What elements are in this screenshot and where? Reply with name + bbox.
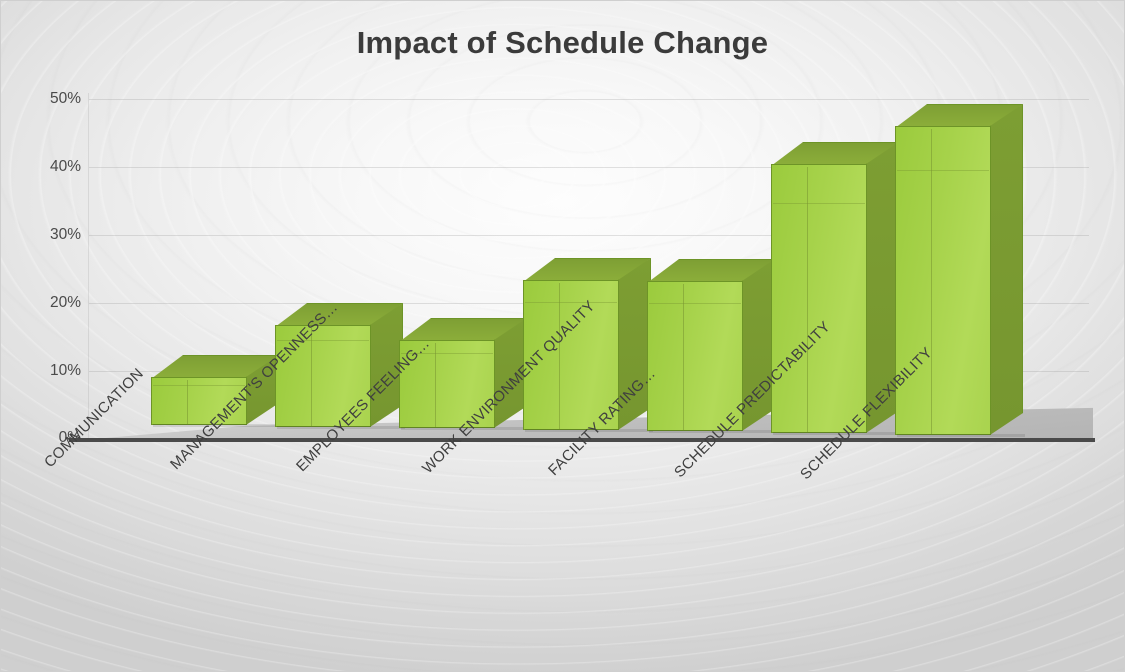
gridline-50 bbox=[89, 99, 1089, 100]
bar-front-face bbox=[895, 126, 991, 435]
bar-side-face bbox=[990, 104, 1023, 435]
bar-inner-edge bbox=[153, 385, 245, 386]
y-tick-label: 10% bbox=[9, 362, 81, 380]
y-tick-label: 50% bbox=[9, 90, 81, 108]
bar-inner-edge bbox=[897, 170, 989, 171]
bar-front-face bbox=[647, 281, 743, 431]
y-tick-label: 20% bbox=[9, 294, 81, 312]
bar[interactable] bbox=[895, 126, 991, 435]
y-axis-line bbox=[88, 93, 89, 441]
bar-front-face bbox=[771, 164, 867, 433]
bar-inner-edge bbox=[931, 129, 932, 434]
bar-inner-edge bbox=[435, 343, 436, 427]
y-tick-label: 30% bbox=[9, 226, 81, 244]
bar-inner-edge bbox=[807, 167, 808, 432]
bar[interactable] bbox=[771, 164, 867, 433]
bar[interactable] bbox=[647, 281, 743, 431]
chart-container: Impact of Schedule Change 50% 40% 30% 20… bbox=[0, 0, 1125, 672]
bar-inner-edge bbox=[187, 380, 188, 424]
bar-inner-edge bbox=[311, 328, 312, 426]
chart-title: Impact of Schedule Change bbox=[1, 25, 1124, 61]
bar-inner-edge bbox=[525, 302, 617, 303]
bar-shadow bbox=[897, 434, 1025, 437]
y-tick-label: 40% bbox=[9, 158, 81, 176]
bar-inner-edge bbox=[559, 283, 560, 429]
bar-inner-edge bbox=[683, 284, 684, 430]
bar-inner-edge bbox=[649, 303, 741, 304]
bar-inner-edge bbox=[773, 203, 865, 204]
